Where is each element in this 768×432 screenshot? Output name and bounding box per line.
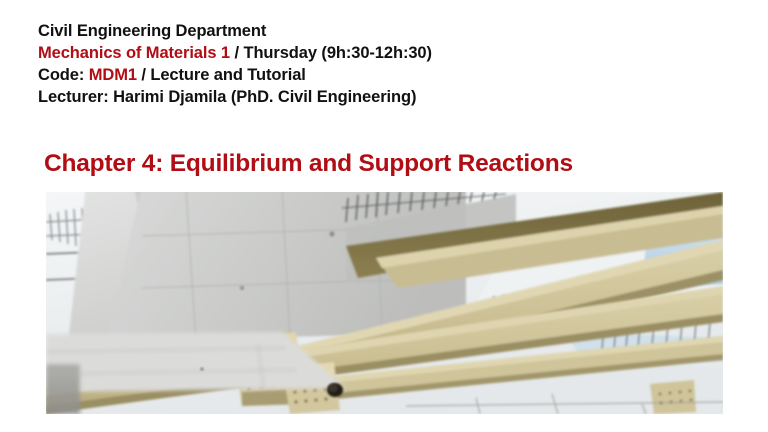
course-separator: / [230,44,243,62]
department-name: Civil Engineering Department [38,22,266,40]
construction-photo [46,192,723,414]
code-label: Code: [38,66,89,84]
header-line-department: Civil Engineering Department [38,20,738,42]
slide-root: Civil Engineering Department Mechanics o… [0,0,768,432]
chapter-title: Chapter 4: Equilibrium and Support React… [44,149,573,179]
course-name: Mechanics of Materials 1 [38,44,230,62]
header-text-block: Civil Engineering Department Mechanics o… [38,20,738,108]
header-line-lecturer: Lecturer: Harimi Djamila (PhD. Civil Eng… [38,86,738,108]
code-rest: / Lecture and Tutorial [137,66,306,84]
construction-photo-illustration [46,192,723,414]
course-code: MDM1 [89,66,137,84]
header-line-course: Mechanics of Materials 1 / Thursday (9h:… [38,42,738,64]
header-line-code: Code: MDM1 / Lecture and Tutorial [38,64,738,86]
lecturer-name: Lecturer: Harimi Djamila (PhD. Civil Eng… [38,88,416,106]
course-schedule: Thursday (9h:30-12h:30) [243,44,431,62]
